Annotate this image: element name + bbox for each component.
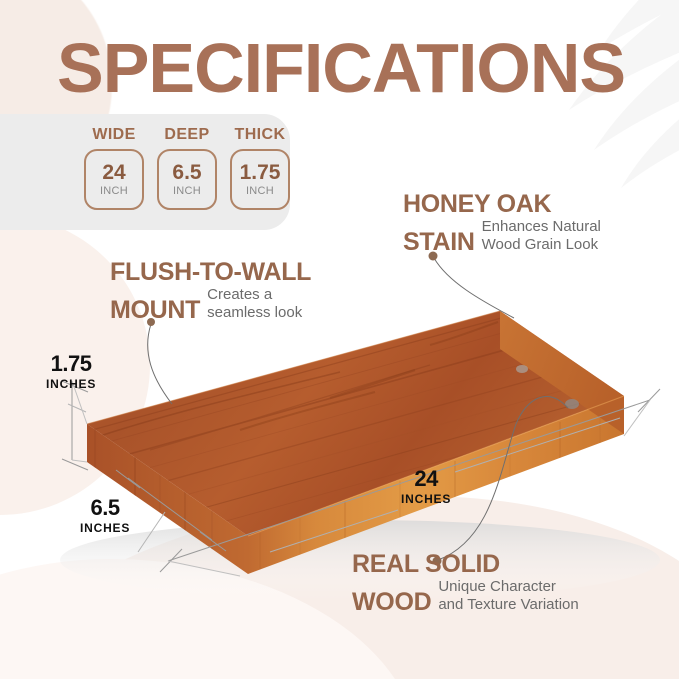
feature-real-solid-wood: REAL SOLID WOOD Unique Character and Tex… — [352, 551, 579, 615]
leader-honey-oak — [434, 258, 514, 318]
feature-real-solid-sub-line2: and Texture Variation — [438, 596, 578, 614]
spec-label-deep: DEEP — [164, 126, 209, 144]
spec-box-deep: 6.5 INCH — [157, 149, 217, 210]
spec-value-deep: 6.5 — [172, 162, 201, 183]
shelf-knot-dot-top — [516, 365, 528, 373]
dimension-unit-depth: INCHES — [80, 521, 130, 535]
spec-box-wide: 24 INCH — [84, 149, 144, 210]
feature-real-solid-head-line1: REAL SOLID — [352, 551, 579, 578]
dimension-unit-width: INCHES — [401, 492, 451, 506]
dimension-label-depth: 6.5 INCHES — [80, 497, 130, 535]
spec-unit-wide: INCH — [100, 185, 128, 197]
feature-honey-oak-sub-line2: Wood Grain Look — [482, 236, 601, 254]
dimension-value-width: 24 — [401, 468, 451, 490]
feature-flush-sub-line2: seamless look — [207, 304, 302, 322]
dimension-value-depth: 6.5 — [80, 497, 130, 519]
feature-flush-sub-line1: Creates a — [207, 286, 302, 304]
dimension-label-thickness: 1.75 INCHES — [46, 353, 96, 391]
spec-unit-thick: INCH — [246, 185, 274, 197]
page-title: SPECIFICATIONS — [57, 33, 625, 103]
shelf-knot-dot-side — [565, 399, 579, 409]
spec-label-wide: WIDE — [92, 126, 135, 144]
spec-item-deep: DEEP 6.5 INCH — [157, 126, 217, 210]
spec-item-wide: WIDE 24 INCH — [84, 126, 144, 210]
feature-flush-head-line2: MOUNT — [110, 297, 200, 324]
feature-flush-head-line1: FLUSH-TO-WALL — [110, 259, 311, 286]
spec-box-thick: 1.75 INCH — [230, 149, 290, 210]
spec-label-thick: THICK — [235, 126, 286, 144]
feature-honey-oak-head-line1: HONEY OAK — [403, 191, 601, 218]
feature-real-solid-head-line2: WOOD — [352, 589, 431, 616]
dimension-unit-thickness: INCHES — [46, 377, 96, 391]
feature-honey-oak-head-line2: STAIN — [403, 229, 475, 256]
feature-flush-to-wall-mount: FLUSH-TO-WALL MOUNT Creates a seamless l… — [110, 259, 311, 323]
shelf-right-end-face — [500, 311, 624, 434]
feature-honey-oak-sub-line1: Enhances Natural — [482, 218, 601, 236]
dimension-value-thickness: 1.75 — [46, 353, 96, 375]
spec-item-thick: THICK 1.75 INCH — [230, 126, 290, 210]
feature-real-solid-sub-line1: Unique Character — [438, 578, 578, 596]
dimension-label-width: 24 INCHES — [401, 468, 451, 506]
spec-panel: WIDE 24 INCH DEEP 6.5 INCH THICK 1.75 IN… — [84, 126, 290, 210]
specifications-infographic: SPECIFICATIONS WIDE 24 INCH DEEP 6.5 INC… — [0, 0, 679, 679]
spec-value-wide: 24 — [102, 162, 125, 183]
feature-honey-oak-stain: HONEY OAK STAIN Enhances Natural Wood Gr… — [403, 191, 601, 255]
spec-unit-deep: INCH — [173, 185, 201, 197]
shelf-top-wood-grain — [92, 317, 628, 523]
spec-value-thick: 1.75 — [240, 162, 281, 183]
leader-flush-to-wall — [148, 324, 172, 404]
